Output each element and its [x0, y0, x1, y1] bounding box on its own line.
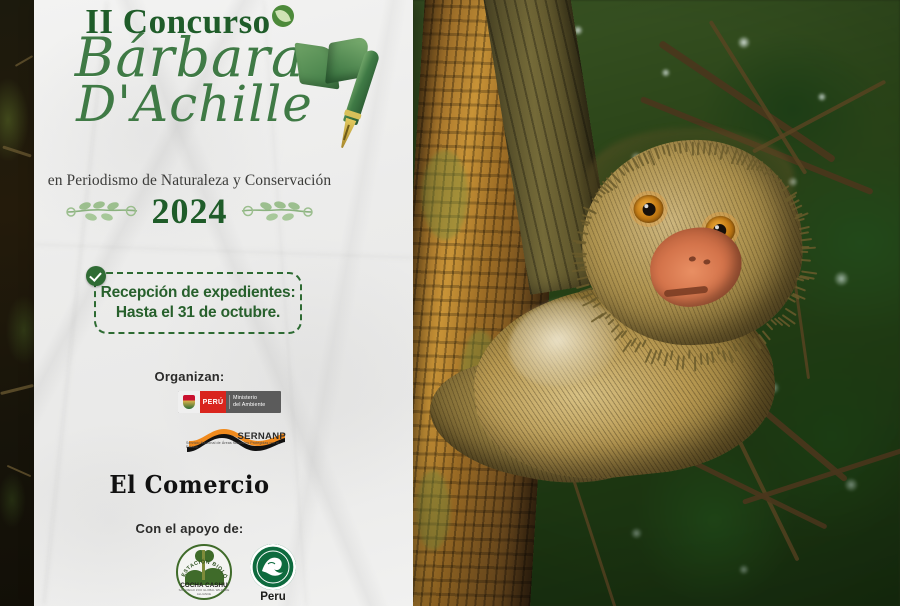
peru-coat-of-arms-icon: [178, 391, 200, 413]
cocha-cashu-seal-icon: ESTACIÓN BIOLÓGICA COCHA CASHU SAN DIEGO…: [176, 544, 232, 600]
poster-year-row: 2024: [0, 190, 379, 232]
supporters-label: Con el apoyo de:: [0, 521, 379, 536]
sernanp-logo: SERNANP Servicio Nacional de Áreas Natur…: [186, 427, 286, 453]
deadline-line-2: Hasta el 31 de octubre.: [116, 303, 280, 323]
deadline-callout: Recepción de expedientes: Hasta el 31 de…: [86, 266, 298, 330]
deadline-line-1: Recepción de expedientes:: [101, 283, 296, 303]
pygmy-marmoset-photo: [412, 0, 900, 606]
wcs-logo: Peru: [250, 544, 296, 604]
minam-logo: PERÚ Ministerio del Ambiente: [178, 391, 281, 413]
minam-country-text: PERÚ: [200, 391, 226, 413]
poster-content: II Concurso Bárbara D'Achille en Periodi…: [0, 0, 379, 606]
poster-year: 2024: [152, 191, 228, 231]
poster-subtitle: en Periodismo de Naturaleza y Conservaci…: [0, 172, 379, 190]
leaf-icon: [272, 5, 294, 27]
cocha-arc-label: ESTACIÓN BIOLÓGICA: [176, 544, 230, 580]
minam-line-2: del Ambiente: [233, 402, 265, 409]
cocha-cashu-subtitle: SAN DIEGO ZOO GLOBAL WILDLIFE ALLIANCE: [176, 588, 232, 596]
wcs-seal-icon: [250, 544, 296, 590]
el-comercio-logo: El Comercio: [11, 470, 367, 499]
svg-text:ESTACIÓN BIOLÓGICA: ESTACIÓN BIOLÓGICA: [176, 544, 230, 580]
organizers-label: Organizan:: [0, 369, 379, 384]
deadline-box: Recepción de expedientes: Hasta el 31 de…: [94, 272, 302, 334]
wcs-name: Peru: [250, 591, 296, 603]
check-circle-icon: [86, 266, 106, 286]
leafy-vine-ornament-left: [63, 199, 141, 223]
sernanp-subtitle: Servicio Nacional de Áreas Naturales Pro…: [186, 441, 285, 449]
minam-line-1: Ministerio: [233, 395, 265, 402]
marmoset-eye-left: [633, 194, 665, 224]
leafy-vine-ornament-right: [238, 199, 316, 223]
poster-root: II Concurso Bárbara D'Achille en Periodi…: [0, 0, 900, 606]
